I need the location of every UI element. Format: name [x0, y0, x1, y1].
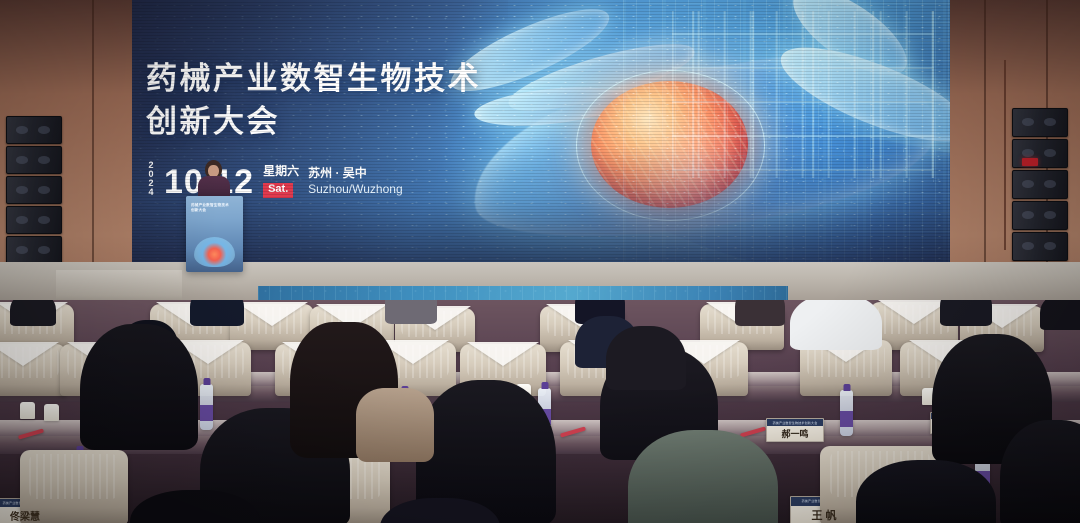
attendee	[735, 300, 785, 326]
name-card-name: 佟梁慧	[10, 501, 40, 523]
podium-caption-line2: 创新大会	[186, 208, 243, 213]
conference-hall-photo: 药械产业数智生物技术 创新大会 2024 10/12 星期六 Sat. 苏州 ·…	[0, 0, 1080, 523]
wall-conduit-pipe	[1004, 60, 1006, 250]
event-place-cn: 苏州 · 吴中	[308, 166, 403, 182]
event-place-en: Suzhou/Wuzhong	[308, 182, 403, 198]
event-title-line2: 创新大会	[146, 101, 616, 144]
chair-lace-cover	[0, 342, 59, 366]
name-card-hao: 药械产业数智生物技术创新大会 郝一鸣	[766, 418, 824, 442]
event-year: 2024	[146, 160, 155, 199]
name-card-name: 王 帆	[811, 499, 836, 523]
attendee-shoulder	[356, 388, 434, 462]
attendee	[1040, 300, 1080, 330]
audience-area: 药械产业数智生物技术创新大会 郝一鸣 药械产业数智生物技术创新大会 杨 晨 药械…	[0, 300, 1080, 523]
folded-napkin	[44, 404, 59, 421]
folded-napkin	[20, 402, 35, 419]
attendee	[940, 300, 992, 326]
podium-caption-line1: 药械产业数智生物技术	[186, 196, 243, 208]
water-bottle	[840, 390, 853, 436]
event-title-line1: 药械产业数智生物技术	[146, 58, 616, 101]
event-weekday-en: Sat.	[263, 183, 293, 198]
attendee-foreground	[606, 326, 686, 390]
name-card-name: 郝一鸣	[781, 421, 808, 440]
attendee	[190, 300, 244, 326]
attendee	[385, 300, 437, 324]
attendee-foreground	[80, 324, 198, 450]
chair-lace-cover	[236, 302, 308, 326]
podium: 药械产业数智生物技术 创新大会	[186, 196, 243, 272]
water-bottle	[200, 384, 213, 430]
attendee	[790, 300, 882, 350]
attendee	[10, 300, 56, 326]
exit-sign	[1022, 158, 1038, 166]
podium-graphic	[194, 237, 235, 267]
event-weekday-block: 星期六 Sat.	[263, 164, 299, 199]
event-weekday-cn: 星期六	[263, 164, 299, 179]
attendee-foreground	[628, 430, 778, 523]
attendee-foreground	[856, 460, 996, 523]
chair-lace-cover	[467, 342, 539, 366]
led-stage-screen: 药械产业数智生物技术 创新大会 2024 10/12 星期六 Sat. 苏州 ·…	[132, 0, 950, 270]
chair	[0, 344, 66, 396]
event-place-block: 苏州 · 吴中 Suzhou/Wuzhong	[308, 166, 403, 198]
